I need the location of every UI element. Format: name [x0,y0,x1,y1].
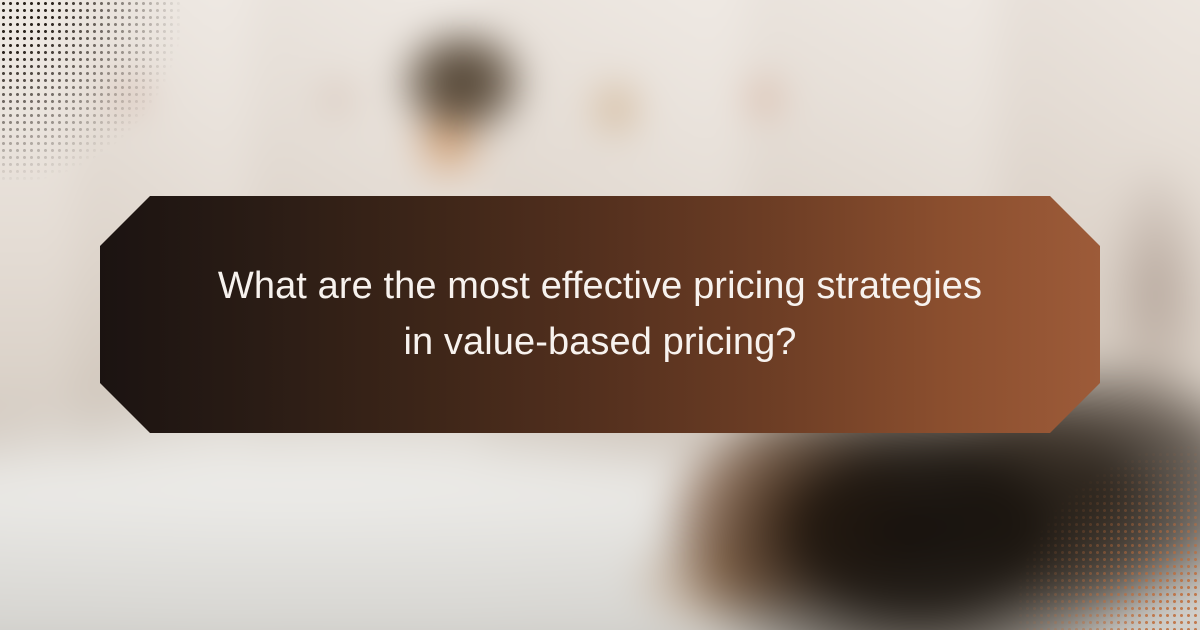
banner-title: What are the most effective pricing stra… [130,259,1070,369]
banner-canvas: What are the most effective pricing stra… [0,0,1200,630]
question-banner: What are the most effective pricing stra… [100,196,1100,433]
